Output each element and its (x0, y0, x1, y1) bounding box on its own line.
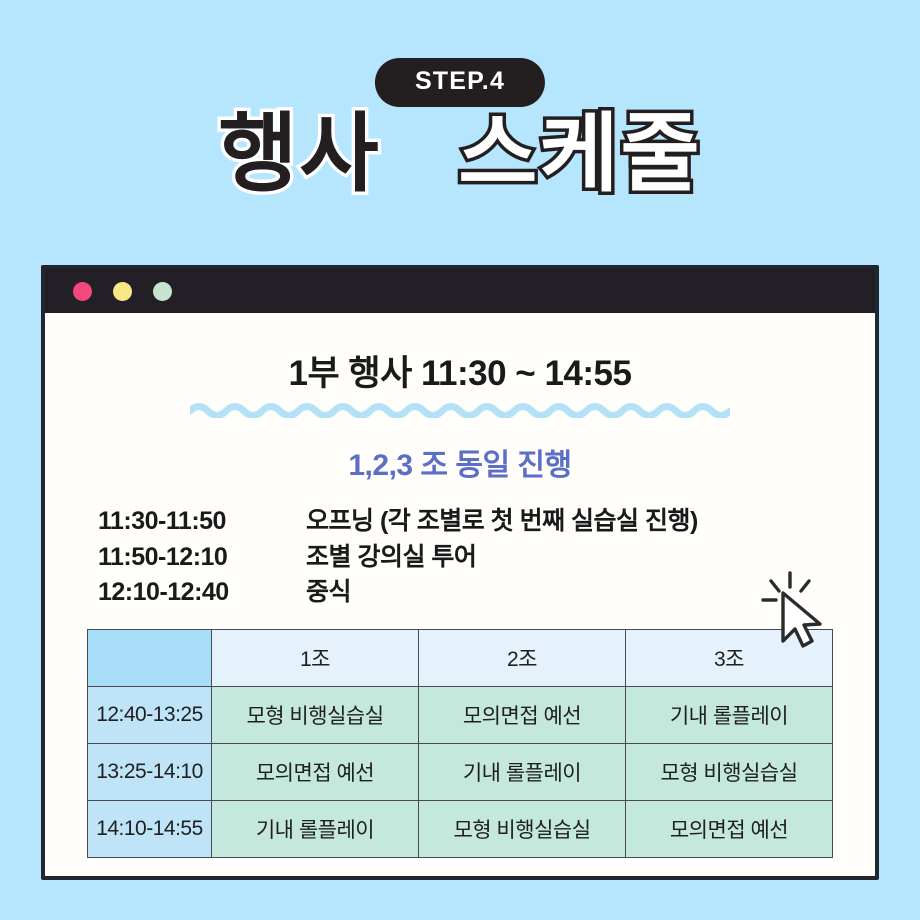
table-header-row: 1조 2조 3조 (88, 629, 833, 686)
schedule-desc: 조별 강의실 투어 (306, 540, 476, 576)
table-row-time: 13:25-14:10 (88, 743, 212, 800)
rotation-table: 1조 2조 3조 12:40-13:25 모형 비행실습실 모의면접 예선 기내… (87, 629, 833, 858)
table-cell: 모형 비행실습실 (212, 686, 419, 743)
schedule-time: 11:30-11:50 (98, 504, 306, 540)
table-row: 13:25-14:10 모의면접 예선 기내 롤플레이 모형 비행실습실 (88, 743, 833, 800)
page-title: 행사 스케줄 (0, 108, 920, 201)
table-cell: 모의면접 예선 (212, 743, 419, 800)
table-row-time: 14:10-14:55 (88, 800, 212, 857)
close-dot-icon[interactable] (73, 282, 92, 301)
wave-divider-icon (190, 402, 730, 418)
rotation-table-wrapper: 1조 2조 3조 12:40-13:25 모형 비행실습실 모의면접 예선 기내… (87, 629, 833, 858)
list-item: 11:30-11:50 오프닝 (각 조별로 첫 번째 실습실 진행) (98, 504, 875, 540)
page-title-part1: 행사 (218, 106, 380, 202)
table-column-header: 2조 (419, 629, 626, 686)
maximize-dot-icon[interactable] (153, 282, 172, 301)
schedule-desc: 중식 (306, 575, 351, 611)
browser-window: 1부 행사 11:30 ~ 14:55 1,2,3 조 동일 진행 11:30-… (41, 265, 879, 880)
table-row: 12:40-13:25 모형 비행실습실 모의면접 예선 기내 롤플레이 (88, 686, 833, 743)
table-cell: 기내 롤플레이 (212, 800, 419, 857)
table-cell: 모의면접 예선 (419, 686, 626, 743)
page-title-part2: 스케줄 (458, 106, 701, 202)
window-content: 1부 행사 11:30 ~ 14:55 1,2,3 조 동일 진행 11:30-… (45, 313, 875, 876)
cursor-click-icon (753, 567, 839, 653)
table-cell: 모형 비행실습실 (419, 800, 626, 857)
table-cell: 기내 롤플레이 (626, 686, 833, 743)
table-row: 14:10-14:55 기내 롤플레이 모형 비행실습실 모의면접 예선 (88, 800, 833, 857)
step-badge: STEP.4 (375, 58, 545, 107)
table-cell: 모의면접 예선 (626, 800, 833, 857)
minimize-dot-icon[interactable] (113, 282, 132, 301)
schedule-desc: 오프닝 (각 조별로 첫 번째 실습실 진행) (306, 504, 698, 540)
session-heading: 1부 행사 11:30 ~ 14:55 (45, 313, 875, 396)
schedule-time: 11:50-12:10 (98, 540, 306, 576)
table-cell: 모형 비행실습실 (626, 743, 833, 800)
schedule-time: 12:10-12:40 (98, 575, 306, 611)
table-corner-cell (88, 629, 212, 686)
window-titlebar (45, 269, 875, 313)
table-column-header: 1조 (212, 629, 419, 686)
schedule-list: 11:30-11:50 오프닝 (각 조별로 첫 번째 실습실 진행) 11:5… (45, 504, 875, 611)
group-subtitle: 1,2,3 조 동일 진행 (45, 440, 875, 484)
table-row-time: 12:40-13:25 (88, 686, 212, 743)
footer-note: 오프닝 : 출석체크, 이름표, 간식부여, 자기소개, 간단한 학교소개 (45, 873, 875, 881)
wave-divider (45, 402, 875, 418)
table-cell: 기내 롤플레이 (419, 743, 626, 800)
